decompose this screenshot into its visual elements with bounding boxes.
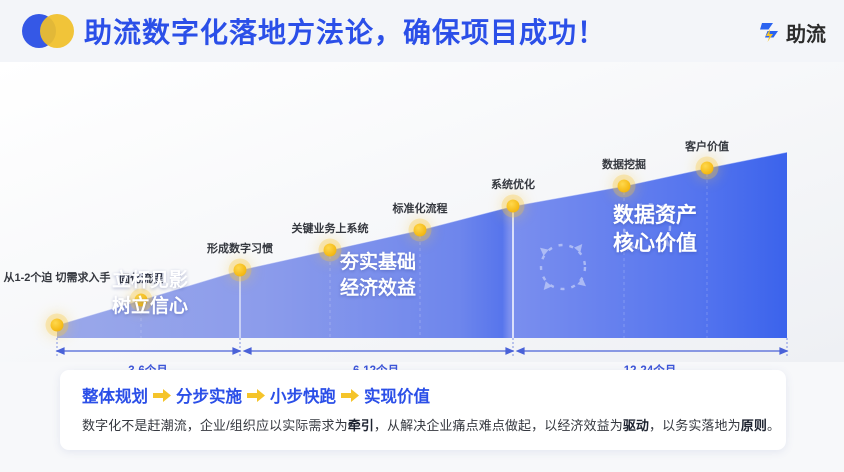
stage-title-2: 夯实基础 经济效益 (340, 250, 416, 301)
timeline-arrows (57, 348, 787, 354)
node-label-4: 关键业务上系统 (292, 223, 369, 237)
node-dot-7[interactable] (618, 180, 631, 193)
node-label-6: 系统优化 (491, 179, 535, 193)
page-header: 助流数字化落地方法论，确保项目成功！ 助流 (0, 0, 844, 62)
step-label-3: 小步快跑 (270, 383, 336, 407)
step-label-4: 实现价值 (364, 383, 430, 407)
summary-description: 数字化不是赶潮流，企业/组织应以实际需求为牵引，从解决企业痛点难点做起，以经济效… (82, 415, 772, 434)
node-label-1: 从1-2个迫 切需求入手 (4, 272, 111, 286)
node-label-5: 标准化流程 (393, 203, 448, 217)
node-label-3: 形成数字习惯 (207, 243, 273, 257)
stage-title-3: 数据资产 核心价值 (613, 202, 697, 259)
logo-circle-gold (40, 14, 74, 48)
summary-panel: 整体规划 分步实施 小步快跑 实现价值 数字化不是赶潮流，企业/组织应以实际需求… (60, 370, 786, 450)
brand-name: 助流 (786, 18, 826, 47)
step-label-2: 分步实施 (176, 383, 242, 407)
arrow-right-icon-1 (152, 388, 172, 403)
stage-title-1: 立杆见影 树立信心 (112, 268, 188, 319)
brand-lockup: 助流 (756, 18, 826, 47)
brand-logo-icon (22, 14, 74, 48)
node-label-7: 数据挖掘 (602, 159, 646, 173)
arrow-right-icon-2 (246, 388, 266, 403)
node-dot-4[interactable] (324, 244, 337, 257)
node-dot-5[interactable] (414, 224, 427, 237)
infographic-canvas: 从1-2个迫 切需求入手 固化流程 形成数字习惯 关键业务上系统 标准化流程 系… (0, 62, 844, 472)
node-dot-3[interactable] (234, 264, 247, 277)
node-dot-1[interactable] (51, 319, 64, 332)
node-dot-8[interactable] (701, 162, 714, 175)
steps-row: 整体规划 分步实施 小步快跑 实现价值 (82, 383, 430, 407)
step-label-1: 整体规划 (82, 383, 148, 407)
lightning-bolt-icon (756, 20, 782, 46)
page-title: 助流数字化落地方法论，确保项目成功！ (84, 11, 606, 51)
node-dot-6[interactable] (507, 200, 520, 213)
node-label-8: 客户价值 (685, 141, 729, 155)
arrow-right-icon-3 (340, 388, 360, 403)
